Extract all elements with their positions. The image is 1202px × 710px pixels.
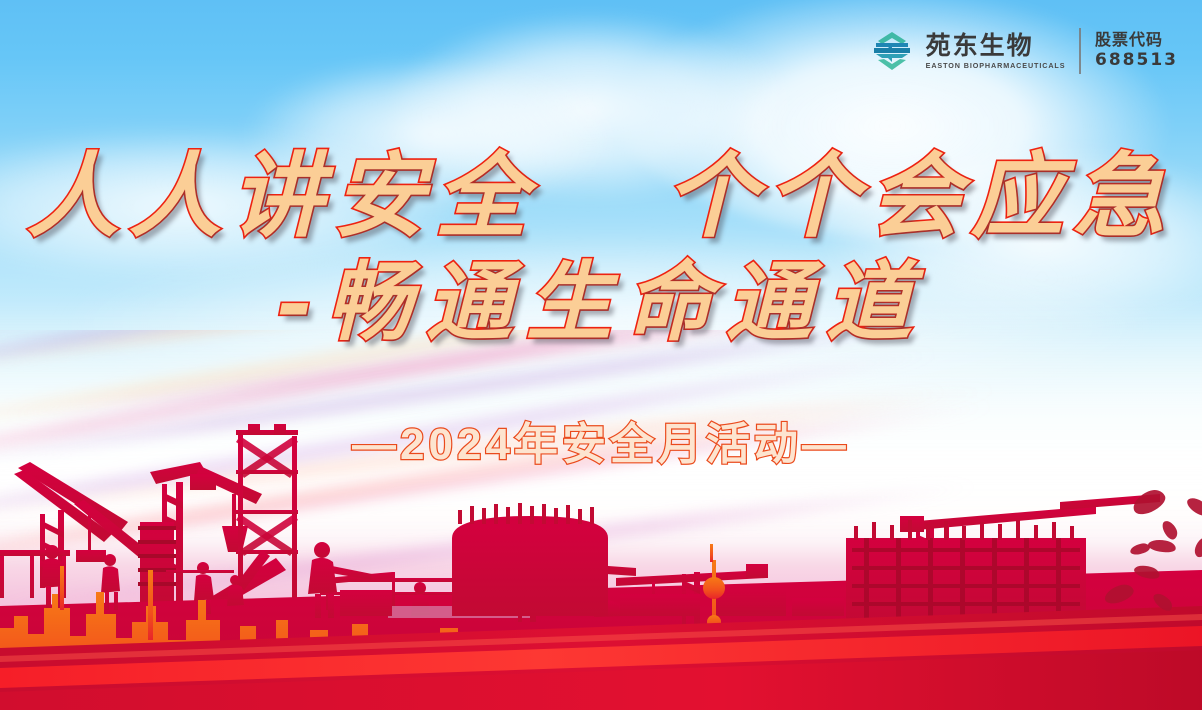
- headline-line-2: -畅通生命通道: [0, 260, 1202, 346]
- stock-label: 股票代码: [1095, 30, 1178, 50]
- headline-line1-part2: 个个会应急: [665, 142, 1175, 250]
- easton-tree-arrow-logo-icon: [872, 30, 912, 72]
- headline-line-1: 人人讲安全 个个会应急: [0, 150, 1202, 242]
- headline-line1-part1: 人人讲安全: [27, 142, 537, 250]
- stock-code: 688513: [1095, 50, 1178, 71]
- safety-poster: 人人讲安全 个个会应急 -畅通生命通道 —2024年安全月活动— 苑东生物 EA…: [0, 0, 1202, 710]
- logo-divider: [1079, 28, 1081, 74]
- brand-name-cn: 苑东生物: [926, 33, 1066, 58]
- campaign-subtitle: —2024年安全月活动—: [0, 408, 1202, 472]
- brand-names: 苑东生物 EASTON BIOPHARMACEUTICALS: [926, 33, 1066, 69]
- brand-logo-bar: 苑东生物 EASTON BIOPHARMACEUTICALS 股票代码 6885…: [872, 28, 1178, 74]
- stock-info: 股票代码 688513: [1095, 30, 1178, 71]
- headline-block: 人人讲安全 个个会应急 -畅通生命通道: [0, 150, 1202, 346]
- brand-name-en: EASTON BIOPHARMACEUTICALS: [926, 62, 1066, 69]
